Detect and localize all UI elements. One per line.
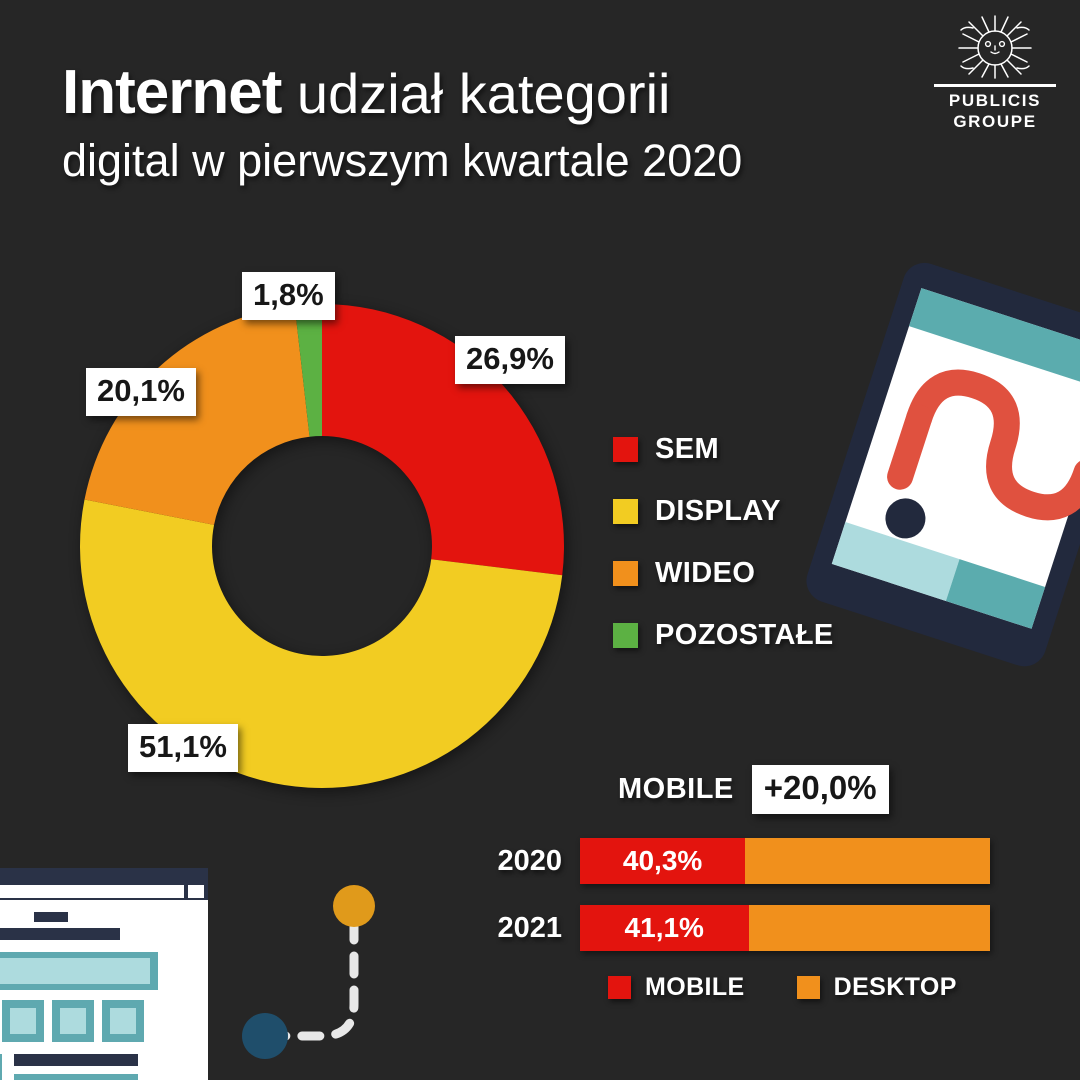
dashed-path-illustration [236,884,396,1064]
browser-window-icon [0,868,208,1080]
bar-row: 2021 41,1% [470,905,990,951]
legend-item-sem[interactable]: SEM [613,418,834,480]
title-strong: Internet [62,58,281,127]
bars-legend-swatch-icon [608,976,631,999]
bars-legend-label: MOBILE [645,973,745,1002]
legend-swatch-icon [613,437,638,462]
legend-item-label: POZOSTAŁE [655,619,834,652]
legend-swatch-icon [613,499,638,524]
logo-divider [934,84,1056,87]
legend-item-display[interactable]: DISPLAY [613,480,834,542]
mobile-growth-badge: +20,0% [752,765,889,814]
mobile-heading-label: MOBILE [618,773,734,806]
bar-track: 40,3% [580,838,990,884]
page-title: Internet udział kategorii digital w pier… [62,58,862,193]
donut-label-display: 51,1% [128,724,238,772]
infographic-canvas: Internet udział kategorii digital w pier… [0,0,1080,1080]
bar-row: 2020 40,3% [470,838,990,884]
bars-legend: MOBILEDESKTOP [608,973,1009,1002]
title-rest: udział kategorii [281,62,670,125]
route-path-icon [236,884,396,1064]
logo-line-2: GROUPE [934,111,1056,132]
bar-segment-mobile: 41,1% [580,905,749,951]
donut-label-wideo: 20,1% [86,368,196,416]
tablet-illustration [793,257,1080,711]
bars-legend-swatch-icon [797,976,820,999]
donut-label-pozostale: 1,8% [242,272,335,320]
donut-label-sem: 26,9% [455,336,565,384]
legend-item-label: WIDEO [655,557,755,590]
donut-legend: SEMDISPLAYWIDEOPOZOSTAŁE [613,418,834,666]
legend-swatch-icon [613,623,638,648]
legend-swatch-icon [613,561,638,586]
bar-segment-desktop [749,905,991,951]
title-line-1: Internet udział kategorii [62,58,862,129]
browser-illustration [0,868,208,1080]
bars-legend-label: DESKTOP [834,973,957,1002]
legend-item-wideo[interactable]: WIDEO [613,542,834,604]
bar-segment-desktop [745,838,990,884]
mobile-section-heading: MOBILE +20,0% [618,765,889,814]
legend-item-label: SEM [655,433,719,466]
bar-track: 41,1% [580,905,990,951]
tablet-icon [793,257,1080,711]
title-line-2: digital w pierwszym kwartale 2020 [62,129,862,193]
publicis-groupe-logo: PUBLICIS GROUPE [934,14,1056,132]
bar-segment-mobile: 40,3% [580,838,745,884]
legend-item-pozostałe[interactable]: POZOSTAŁE [613,604,834,666]
bar-year-label: 2020 [470,845,580,878]
publicis-sun-lion-icon [949,14,1041,82]
logo-line-1: PUBLICIS [934,90,1056,111]
legend-item-label: DISPLAY [655,495,781,528]
bar-year-label: 2021 [470,912,580,945]
bars-legend-item-mobile[interactable]: MOBILE [608,973,745,1002]
bars-legend-item-desktop[interactable]: DESKTOP [797,973,957,1002]
